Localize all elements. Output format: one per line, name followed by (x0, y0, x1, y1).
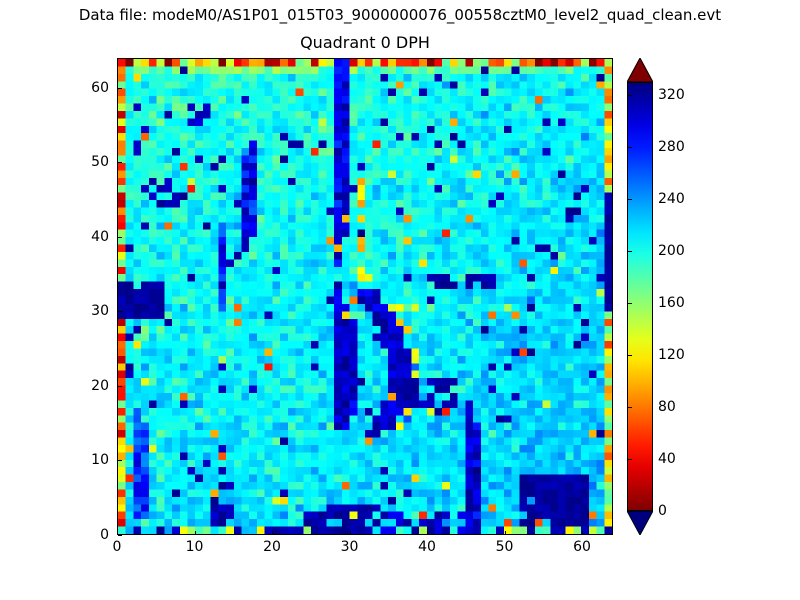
y-tick (118, 460, 122, 461)
y-tick (118, 386, 122, 387)
y-tick (118, 311, 122, 312)
x-tick (195, 531, 196, 535)
y-tick-label: 10 (75, 452, 109, 468)
colorbar-extend-min-arrow (627, 511, 653, 535)
colorbar[interactable] (627, 58, 653, 535)
y-tick (118, 162, 122, 163)
y-tick-label: 40 (75, 229, 109, 245)
y-tick-label: 20 (75, 378, 109, 394)
y-tick (118, 237, 122, 238)
x-tick (582, 531, 583, 535)
x-tick-label: 60 (573, 539, 591, 555)
colorbar-tick-label: 120 (658, 347, 685, 363)
x-tick-label: 40 (418, 539, 436, 555)
colorbar-extend-max-arrow (627, 58, 653, 82)
colorbar-tick (627, 147, 632, 148)
x-tick-label: 20 (263, 539, 281, 555)
colorbar-tick-label: 0 (658, 503, 667, 519)
x-tick-label: 50 (496, 539, 514, 555)
colorbar-tick-label: 200 (658, 243, 685, 259)
x-tick (427, 531, 428, 535)
x-tick-label: 0 (113, 539, 122, 555)
dph-heatmap-axes[interactable] (117, 58, 613, 535)
colorbar-tick-label: 280 (658, 139, 685, 155)
colorbar-tick (627, 407, 632, 408)
colorbar-tick (627, 199, 632, 200)
x-tick (350, 531, 351, 535)
y-tick (118, 88, 122, 89)
colorbar-tick-label: 320 (658, 87, 685, 103)
colorbar-tick (627, 355, 632, 356)
colorbar-tick-label: 80 (658, 399, 676, 415)
figure-canvas: Data file: modeM0/AS1P01_015T03_90000000… (0, 0, 800, 600)
y-tick-label: 50 (75, 154, 109, 170)
x-tick (505, 531, 506, 535)
x-tick-label: 30 (341, 539, 359, 555)
y-tick-label: 30 (75, 303, 109, 319)
y-tick-label: 0 (75, 527, 109, 543)
colorbar-tick-label: 160 (658, 295, 685, 311)
y-tick-label: 60 (75, 80, 109, 96)
y-tick (118, 535, 122, 536)
colorbar-tick-label: 240 (658, 191, 685, 207)
colorbar-tick (627, 303, 632, 304)
colorbar-tick (627, 95, 632, 96)
x-tick (272, 531, 273, 535)
colorbar-tick-label: 40 (658, 451, 676, 467)
x-tick-label: 10 (186, 539, 204, 555)
data-file-title: Data file: modeM0/AS1P01_015T03_90000000… (0, 6, 800, 24)
plot-title: Quadrant 0 DPH (117, 33, 613, 52)
colorbar-tick (627, 511, 632, 512)
colorbar-tick (627, 251, 632, 252)
colorbar-tick (627, 459, 632, 460)
dph-heatmap-image[interactable] (118, 59, 612, 534)
